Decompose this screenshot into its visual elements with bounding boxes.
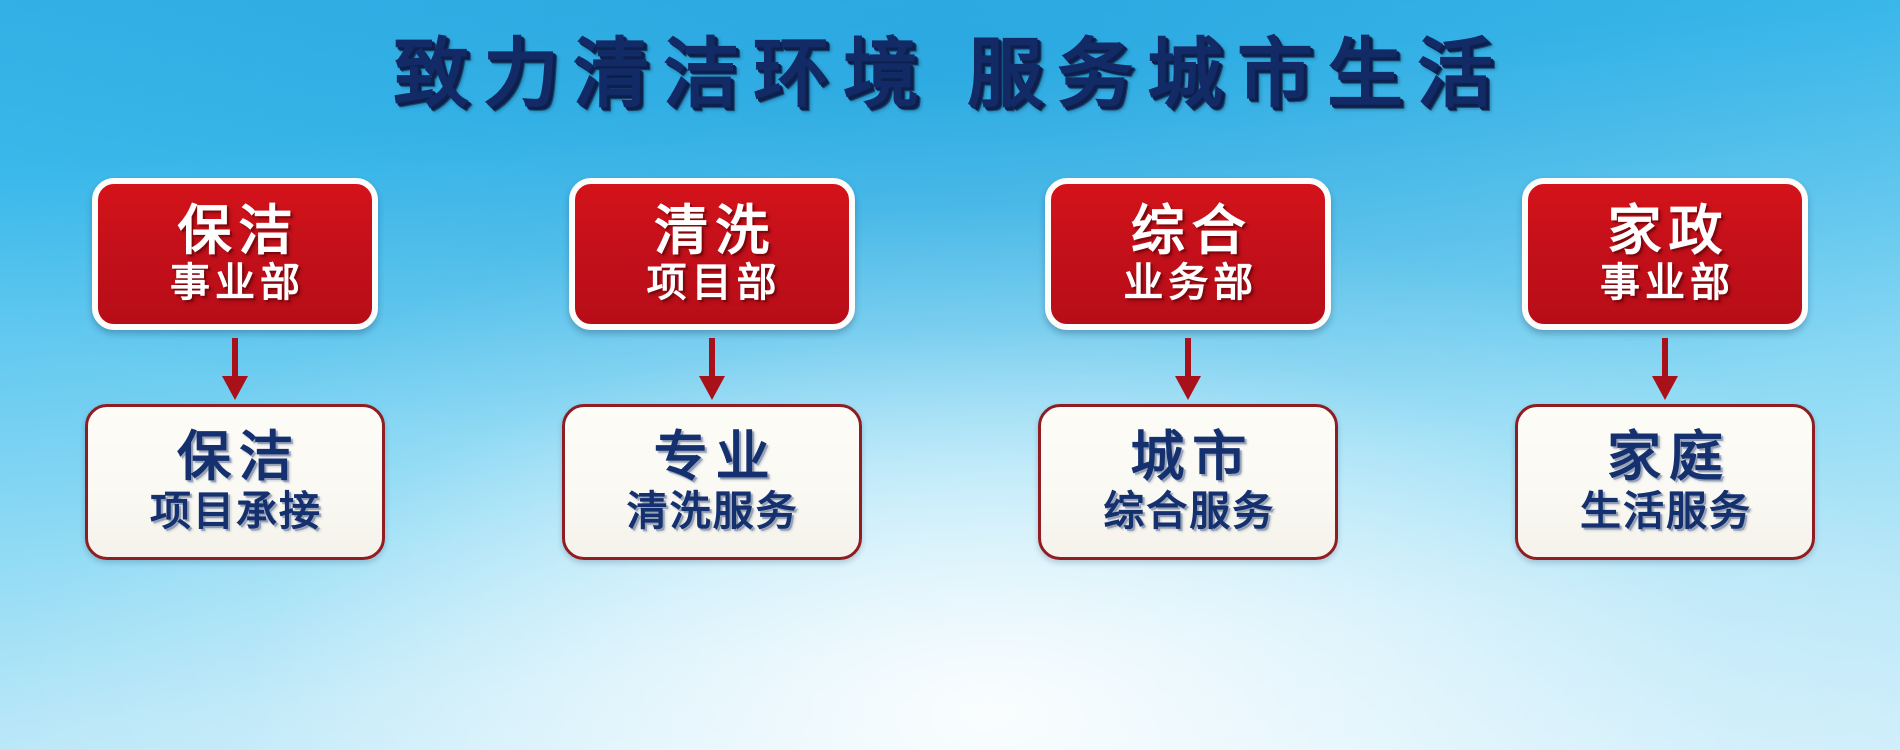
service-card-3-line2: 综合服务 xyxy=(1101,489,1275,535)
department-card-4[interactable]: 家政 事业部 xyxy=(1522,178,1808,330)
department-card-2-line1: 清洗 xyxy=(647,203,776,259)
service-card-2-line1: 专业 xyxy=(646,429,778,485)
service-card-3[interactable]: 城市 综合服务 xyxy=(1038,404,1338,560)
service-card-2-line2: 清洗服务 xyxy=(625,489,799,535)
banner-title-part-1: 致力清洁环境 xyxy=(393,36,933,112)
department-card-1-line2: 事业部 xyxy=(165,261,305,306)
department-column-3: 综合 业务部 城市 综合服务 xyxy=(993,178,1383,578)
organization-structure-banner: 致力清洁环境服务城市生活 保洁 事业部 保洁 项目承接 清洗 项目部 xyxy=(0,0,1900,750)
arrow-down-icon-2 xyxy=(697,338,727,400)
arrow-head xyxy=(1652,376,1678,400)
service-card-2[interactable]: 专业 清洗服务 xyxy=(562,404,862,560)
service-card-1-line1: 保洁 xyxy=(169,429,301,485)
arrow-head xyxy=(1175,376,1201,400)
department-card-3-line2: 业务部 xyxy=(1118,261,1258,306)
department-card-3[interactable]: 综合 业务部 xyxy=(1045,178,1331,330)
department-card-1[interactable]: 保洁 事业部 xyxy=(92,178,378,330)
banner-title-part-2: 服务城市生活 xyxy=(967,36,1507,112)
arrow-shaft xyxy=(1185,338,1191,380)
service-card-3-line1: 城市 xyxy=(1122,429,1254,485)
arrow-down-icon-3 xyxy=(1173,338,1203,400)
service-card-4[interactable]: 家庭 生活服务 xyxy=(1515,404,1815,560)
service-card-1-line2: 项目承接 xyxy=(148,489,322,535)
arrow-down-icon-1 xyxy=(220,338,250,400)
arrow-head xyxy=(699,376,725,400)
department-card-1-line1: 保洁 xyxy=(171,203,300,259)
service-card-1[interactable]: 保洁 项目承接 xyxy=(85,404,385,560)
arrow-shaft xyxy=(1662,338,1668,380)
arrow-shaft xyxy=(709,338,715,380)
department-card-4-line1: 家政 xyxy=(1600,203,1729,259)
banner-title: 致力清洁环境服务城市生活 xyxy=(0,36,1900,112)
department-columns: 保洁 事业部 保洁 项目承接 清洗 项目部 专业 xyxy=(40,178,1860,578)
service-card-4-line1: 家庭 xyxy=(1599,429,1731,485)
department-card-3-line1: 综合 xyxy=(1124,203,1253,259)
arrow-down-icon-4 xyxy=(1650,338,1680,400)
arrow-shaft xyxy=(232,338,238,380)
department-card-4-line2: 事业部 xyxy=(1595,261,1735,306)
department-column-4: 家政 事业部 家庭 生活服务 xyxy=(1470,178,1860,578)
department-card-2-line2: 项目部 xyxy=(642,261,782,306)
department-column-2: 清洗 项目部 专业 清洗服务 xyxy=(517,178,907,578)
service-card-4-line2: 生活服务 xyxy=(1578,489,1752,535)
department-column-1: 保洁 事业部 保洁 项目承接 xyxy=(40,178,430,578)
arrow-head xyxy=(222,376,248,400)
department-card-2[interactable]: 清洗 项目部 xyxy=(569,178,855,330)
